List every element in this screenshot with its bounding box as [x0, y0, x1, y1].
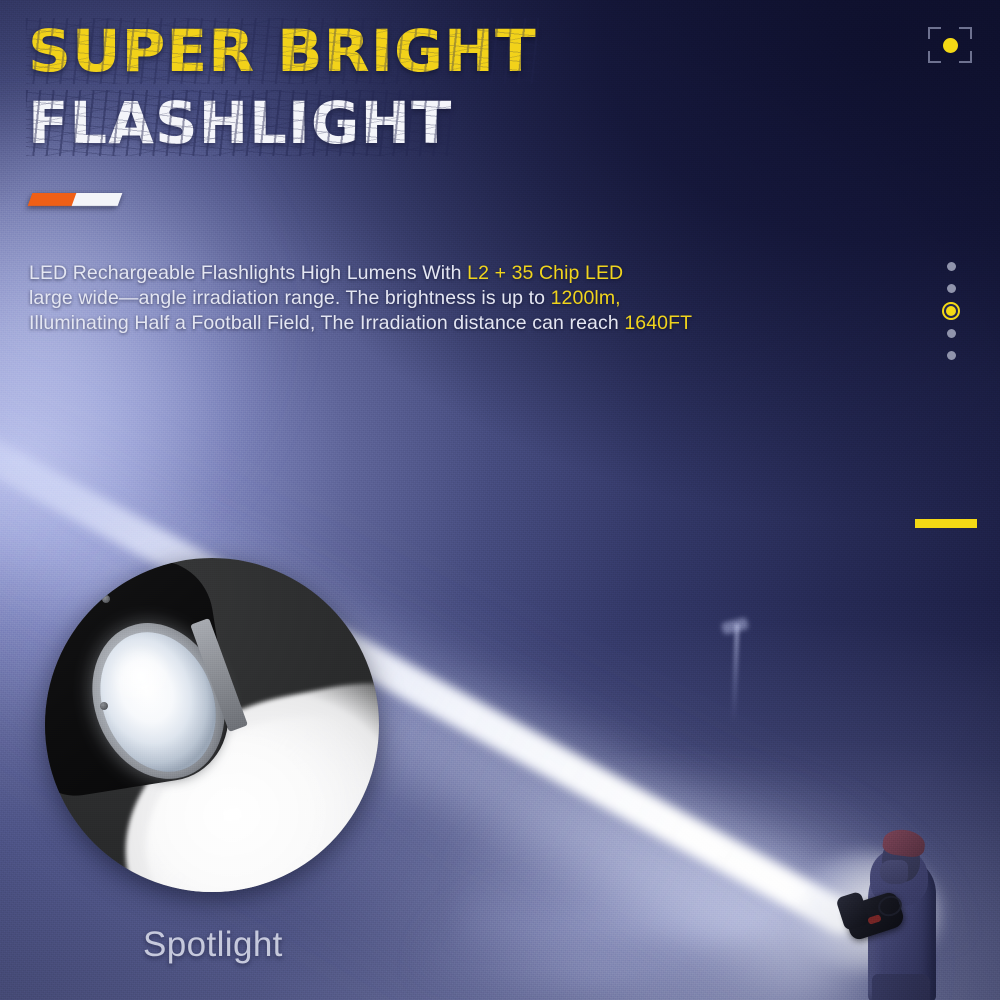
- spec-chip-led: L2 + 35 Chip LED: [467, 262, 623, 284]
- headline-line-2: FLASHLIGHT: [28, 94, 681, 152]
- divider-orange-segment: [28, 193, 77, 206]
- headline-block: SUPER BRIGHT FLASHLIGHT: [28, 22, 668, 152]
- focus-bracket-icon[interactable]: [928, 27, 972, 63]
- inset-grain-overlay: [45, 558, 379, 892]
- divider-white-segment: [72, 193, 123, 206]
- spec-distance: 1640FT: [624, 312, 692, 334]
- focus-corner-top-left: [928, 27, 941, 39]
- carousel-dot-4[interactable]: [947, 329, 956, 338]
- headline-line-1: SUPER BRIGHT: [28, 22, 687, 80]
- headline-line-2-text: FLASHLIGHT: [28, 94, 452, 152]
- carousel-dot-3-active[interactable]: [946, 306, 956, 316]
- product-banner: SUPER BRIGHT FLASHLIGHT LED Rechargeable…: [0, 0, 1000, 1000]
- accent-divider: [28, 193, 123, 206]
- focus-corner-bottom-right: [959, 51, 972, 63]
- spotlight-caption: Spotlight: [143, 925, 283, 965]
- spec-lumens: 1200lm,: [551, 287, 621, 309]
- carousel-dots[interactable]: [946, 262, 956, 360]
- carousel-dot-1[interactable]: [947, 262, 956, 271]
- accent-dash: [915, 519, 977, 528]
- headline-line-1-text: SUPER BRIGHT: [28, 22, 537, 80]
- focus-corner-bottom-left: [928, 51, 941, 63]
- description-line-3-text: Illuminating Half a Football Field, The …: [29, 312, 624, 334]
- description-line-3: Illuminating Half a Football Field, The …: [29, 311, 929, 336]
- focus-corner-top-right: [959, 27, 972, 39]
- description-line-1: LED Rechargeable Flashlights High Lumens…: [29, 261, 929, 286]
- focus-center-dot: [943, 38, 958, 53]
- carousel-dot-5[interactable]: [947, 351, 956, 360]
- product-description: LED Rechargeable Flashlights High Lumens…: [29, 261, 929, 336]
- carousel-dot-2[interactable]: [947, 284, 956, 293]
- description-line-1-text: LED Rechargeable Flashlights High Lumens…: [29, 262, 467, 284]
- description-line-2: large wide—angle irradiation range. The …: [29, 286, 929, 311]
- description-line-2-text: large wide—angle irradiation range. The …: [29, 287, 551, 309]
- spotlight-inset-photo: [45, 558, 379, 892]
